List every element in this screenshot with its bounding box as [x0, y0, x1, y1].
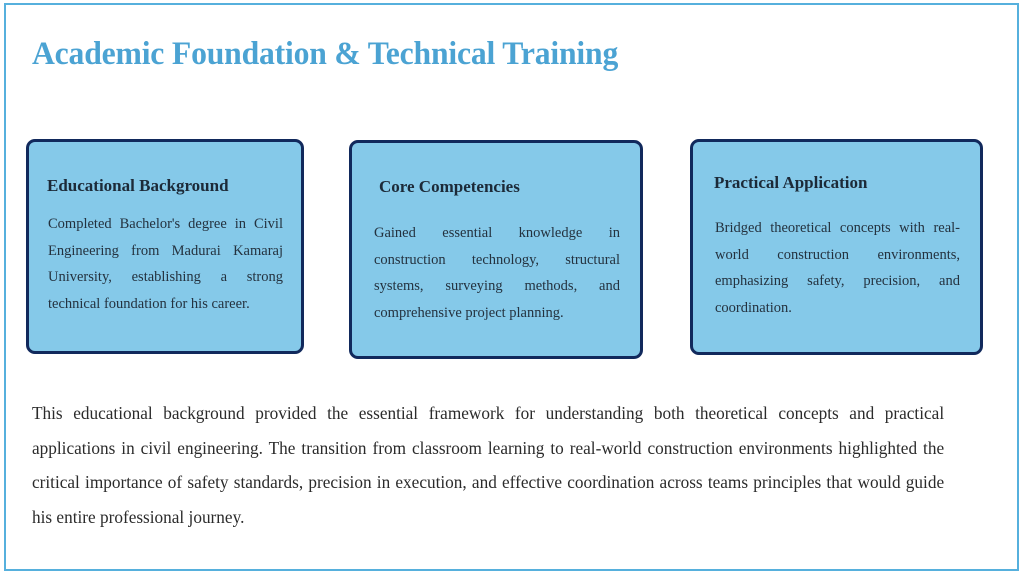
- card-row: Educational Background Completed Bachelo…: [0, 137, 1024, 359]
- card-heading: Core Competencies: [379, 176, 640, 198]
- card-practical-application[interactable]: Practical Application Bridged theoretica…: [690, 139, 983, 355]
- slide: Academic Foundation & Technical Training…: [0, 0, 1024, 576]
- page-title: Academic Foundation & Technical Training: [32, 32, 618, 76]
- card-educational-background[interactable]: Educational Background Completed Bachelo…: [26, 139, 304, 354]
- card-body-text: Completed Bachelor's degree in Civil Eng…: [48, 211, 283, 317]
- card-heading: Practical Application: [714, 172, 980, 194]
- card-core-competencies[interactable]: Core Competencies Gained essential knowl…: [349, 140, 643, 359]
- card-body-text: Gained essential knowledge in constructi…: [374, 220, 620, 326]
- card-body-text: Bridged theoretical concepts with real-w…: [715, 215, 960, 321]
- summary-paragraph: This educational background provided the…: [32, 396, 944, 534]
- card-heading: Educational Background: [47, 175, 301, 197]
